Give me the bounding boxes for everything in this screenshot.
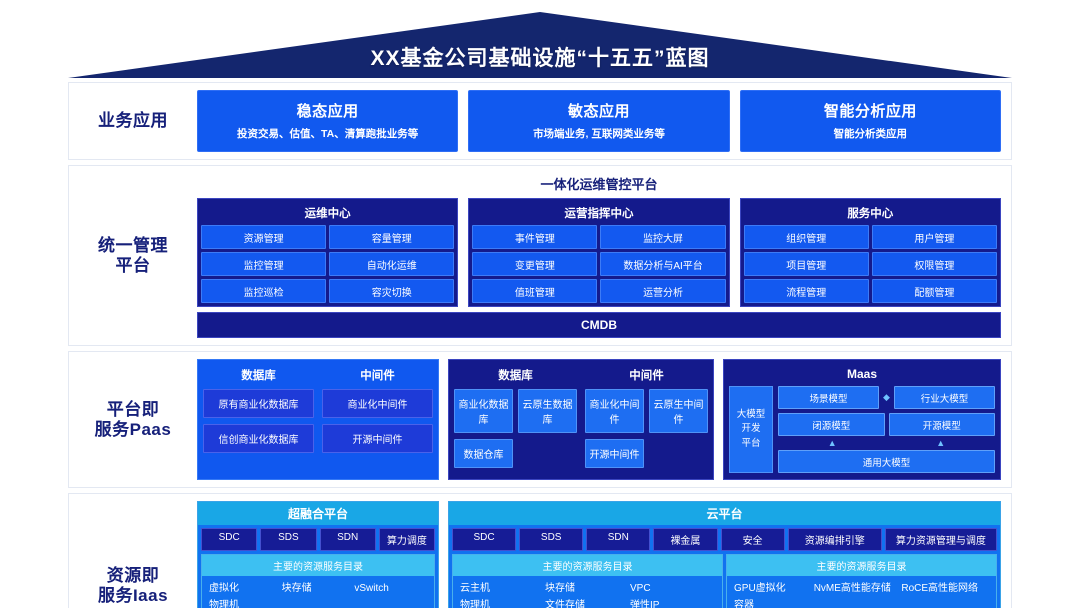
- roof-shape: XX基金公司基础设施“十五五”蓝图: [68, 12, 1012, 78]
- hyper-chip[interactable]: SDN: [320, 528, 376, 551]
- paas-item[interactable]: 商业化数据库: [454, 389, 513, 433]
- paas-group-traditional: 数据库 原有商业化数据库 信创商业化数据库 中间件 商业化中间件 开源中间件: [197, 359, 439, 480]
- catalog-col: 块存储 文件存储 对象存储: [545, 581, 630, 608]
- row-label-iaas: 资源即 服务Iaas: [69, 494, 197, 608]
- paas-item[interactable]: 云原生中间件: [649, 389, 708, 433]
- center-item[interactable]: 运营分析: [600, 279, 725, 303]
- cloud-chip[interactable]: SDN: [586, 528, 650, 551]
- catalog-col: RoCE高性能网络: [901, 581, 989, 608]
- row-paas: 平台即 服务Paas 数据库 原有商业化数据库 信创商业化数据库 中间件: [68, 351, 1012, 488]
- row-label-line2: 服务Iaas: [98, 586, 168, 606]
- maas-title: Maas: [729, 365, 995, 386]
- center-item[interactable]: 项目管理: [744, 252, 869, 276]
- paas-group-cloudnative: 数据库 商业化数据库 云原生数据库 数据仓库 中间件 商业化中间件 云原生: [448, 359, 714, 480]
- cmdb-bar[interactable]: CMDB: [197, 312, 1001, 338]
- row-label-line1: 平台即: [95, 400, 172, 420]
- app-card-title: 智能分析应用: [747, 100, 994, 121]
- center-operations-command[interactable]: 运营指挥中心 事件管理 监控大屏 变更管理 数据分析与AI平台 值班管理 运营分…: [468, 198, 729, 307]
- catalog-title: 主要的资源服务目录: [202, 555, 434, 576]
- page-title: XX基金公司基础设施“十五五”蓝图: [370, 42, 709, 78]
- paas-item[interactable]: 信创商业化数据库: [203, 424, 314, 453]
- app-card-title: 敏态应用: [475, 100, 722, 121]
- maas-general-model[interactable]: 通用大模型: [778, 450, 995, 473]
- cloud-chip[interactable]: 安全: [721, 528, 785, 551]
- catalog-item: 容器: [734, 598, 814, 608]
- catalog-col: 块存储: [282, 581, 355, 608]
- cloud-chip[interactable]: SDS: [519, 528, 583, 551]
- catalog-item: 物理机: [460, 598, 545, 608]
- paas-item[interactable]: 云原生数据库: [518, 389, 577, 433]
- iaas-cloud-platform: 云平台 SDC SDS SDN 裸金属 安全 资源编排引擎 算力资源管理与调度: [448, 501, 1001, 608]
- paas-group-maas: Maas 大模型 开发 平台 场景模型: [723, 359, 1001, 480]
- layer-stack: 业务应用 稳态应用 投资交易、估值、TA、清算跑批业务等 敏态应用 市场端业务,…: [68, 82, 1012, 608]
- cloud-chip[interactable]: SDC: [452, 528, 516, 551]
- paas-group-title: 中间件: [585, 365, 708, 389]
- app-card-title: 稳态应用: [204, 100, 451, 121]
- maas-dev-line2: 开发: [737, 422, 766, 436]
- catalog-col: 云主机 物理机 容器: [460, 581, 545, 608]
- paas-mw-traditional: 中间件 商业化中间件 开源中间件: [322, 365, 433, 474]
- row-label-management: 统一管理 平台: [69, 166, 197, 345]
- row-label-line2: 服务Paas: [95, 420, 172, 440]
- center-title: 服务中心: [744, 202, 997, 225]
- paas-mw-cloudnative: 中间件 商业化中间件 云原生中间件 开源中间件: [585, 365, 708, 474]
- center-item[interactable]: 自动化运维: [329, 252, 454, 276]
- center-item[interactable]: 权限管理: [872, 252, 997, 276]
- center-item[interactable]: 数据分析与AI平台: [600, 252, 725, 276]
- catalog-item: vSwitch: [354, 581, 427, 598]
- paas-item[interactable]: 商业化中间件: [322, 389, 433, 418]
- row-label-line1: 统一管理: [98, 236, 168, 256]
- hyper-chip[interactable]: SDS: [260, 528, 316, 551]
- cloud-catalog-pane-2: 主要的资源服务目录 GPU虚拟化 容器 物理机 NvME高性能存储: [726, 554, 997, 608]
- catalog-col: VPC 弹性IP 负载均衡: [630, 581, 715, 608]
- center-title: 运维中心: [201, 202, 454, 225]
- arrow-up-icon: ▲: [887, 440, 996, 446]
- paas-db-traditional: 数据库 原有商业化数据库 信创商业化数据库: [203, 365, 314, 474]
- maas-closed-model[interactable]: 闭源模型: [778, 413, 885, 436]
- platform-title: 一体化运维管控平台: [197, 174, 1001, 193]
- paas-item[interactable]: 开源中间件: [585, 439, 644, 468]
- app-card-subtitle: 投资交易、估值、TA、清算跑批业务等: [204, 126, 451, 141]
- app-card-stable[interactable]: 稳态应用 投资交易、估值、TA、清算跑批业务等: [197, 90, 458, 152]
- catalog-item: VPC: [630, 581, 715, 598]
- center-title: 运营指挥中心: [472, 202, 725, 225]
- app-card-agile[interactable]: 敏态应用 市场端业务, 互联网类业务等: [468, 90, 729, 152]
- cloud-chip[interactable]: 算力资源管理与调度: [885, 528, 997, 551]
- app-card-intelligent-analysis[interactable]: 智能分析应用 智能分析类应用: [740, 90, 1001, 152]
- iaas-hyperconverged-platform: 超融合平台 SDC SDS SDN 算力调度 主要的资源服务目录: [197, 501, 439, 608]
- hyper-chip[interactable]: 算力调度: [379, 528, 435, 551]
- catalog-item: GPU虚拟化: [734, 581, 814, 598]
- center-ops[interactable]: 运维中心 资源管理 容量管理 监控管理 自动化运维 监控巡检 容灾切换: [197, 198, 458, 307]
- center-item[interactable]: 组织管理: [744, 225, 869, 249]
- catalog-item: 弹性IP: [630, 598, 715, 608]
- catalog-col: vSwitch: [354, 581, 427, 608]
- catalog-col: NvME高性能存储: [814, 581, 902, 608]
- paas-item[interactable]: 数据仓库: [454, 439, 513, 468]
- paas-item[interactable]: 开源中间件: [322, 424, 433, 453]
- catalog-item: 虚拟化: [209, 581, 282, 598]
- blueprint-page: XX基金公司基础设施“十五五”蓝图 业务应用 稳态应用 投资交易、估值、TA、清…: [0, 0, 1080, 608]
- center-item[interactable]: 资源管理: [201, 225, 326, 249]
- center-item[interactable]: 监控大屏: [600, 225, 725, 249]
- arrow-up-icon: ▲: [778, 440, 887, 446]
- catalog-item: NvME高性能存储: [814, 581, 902, 598]
- paas-group-title: 数据库: [203, 365, 314, 389]
- paas-db-cloudnative: 数据库 商业化数据库 云原生数据库 数据仓库: [454, 365, 577, 474]
- center-item[interactable]: 配额管理: [872, 279, 997, 303]
- app-card-subtitle: 智能分析类应用: [747, 126, 994, 141]
- catalog-title: 主要的资源服务目录: [727, 555, 996, 576]
- row-business-applications: 业务应用 稳态应用 投资交易、估值、TA、清算跑批业务等 敏态应用 市场端业务,…: [68, 82, 1012, 160]
- paas-item[interactable]: 原有商业化数据库: [203, 389, 314, 418]
- catalog-item: 块存储: [545, 581, 630, 598]
- center-item[interactable]: 值班管理: [472, 279, 597, 303]
- maas-scene-model[interactable]: 场景模型: [778, 386, 879, 409]
- center-item[interactable]: 监控巡检: [201, 279, 326, 303]
- row-label-paas: 平台即 服务Paas: [69, 352, 197, 487]
- center-item[interactable]: 变更管理: [472, 252, 597, 276]
- paas-group-title: 中间件: [322, 365, 433, 389]
- center-service[interactable]: 服务中心 组织管理 用户管理 项目管理 权限管理 流程管理 配额管理: [740, 198, 1001, 307]
- management-centers: 运维中心 资源管理 容量管理 监控管理 自动化运维 监控巡检 容灾切换 运营指挥…: [197, 198, 1001, 307]
- maas-industry-model[interactable]: 行业大模型: [894, 386, 995, 409]
- catalog-title: 主要的资源服务目录: [453, 555, 722, 576]
- catalog-col: 虚拟化 物理机: [209, 581, 282, 608]
- arrow-left-right-icon: ◆: [883, 393, 890, 402]
- hyper-chip[interactable]: SDC: [201, 528, 257, 551]
- paas-group-title: 数据库: [454, 365, 577, 389]
- hyper-catalog-pane: 主要的资源服务目录 虚拟化 物理机 块存储: [201, 554, 435, 608]
- business-app-cards: 稳态应用 投资交易、估值、TA、清算跑批业务等 敏态应用 市场端业务, 互联网类…: [197, 90, 1001, 152]
- center-item[interactable]: 流程管理: [744, 279, 869, 303]
- catalog-item: 云主机: [460, 581, 545, 598]
- center-item[interactable]: 用户管理: [872, 225, 997, 249]
- row-iaas: 资源即 服务Iaas 超融合平台 SDC SDS SDN 算力调度: [68, 493, 1012, 608]
- center-item[interactable]: 事件管理: [472, 225, 597, 249]
- row-unified-management-platform: 统一管理 平台 一体化运维管控平台 运维中心 资源管理 容量管理 监控管理 自动…: [68, 165, 1012, 346]
- cloud-chip[interactable]: 裸金属: [653, 528, 717, 551]
- catalog-col: GPU虚拟化 容器 物理机: [734, 581, 814, 608]
- paas-item[interactable]: 商业化中间件: [585, 389, 644, 433]
- maas-open-model[interactable]: 开源模型: [889, 413, 996, 436]
- cloud-title: 云平台: [449, 502, 1000, 525]
- cloud-catalog-pane-1: 主要的资源服务目录 云主机 物理机 容器 块存储 文: [452, 554, 723, 608]
- center-item[interactable]: 容灾切换: [329, 279, 454, 303]
- app-card-subtitle: 市场端业务, 互联网类业务等: [475, 126, 722, 141]
- center-item[interactable]: 容量管理: [329, 225, 454, 249]
- hyper-title: 超融合平台: [198, 502, 438, 525]
- maas-dev-platform[interactable]: 大模型 开发 平台: [729, 386, 773, 473]
- row-label-line2: 平台: [98, 256, 168, 276]
- catalog-item: 块存储: [282, 581, 355, 598]
- maas-dev-line3: 平台: [737, 437, 766, 451]
- maas-dev-line1: 大模型: [737, 408, 766, 422]
- catalog-item: 文件存储: [545, 598, 630, 608]
- catalog-item: 物理机: [209, 598, 282, 608]
- row-label-line1: 资源即: [98, 566, 168, 586]
- cloud-chip[interactable]: 资源编排引擎: [788, 528, 882, 551]
- row-label-business: 业务应用: [69, 83, 197, 159]
- center-item[interactable]: 监控管理: [201, 252, 326, 276]
- roof-header: XX基金公司基础设施“十五五”蓝图: [0, 0, 1080, 78]
- catalog-item: RoCE高性能网络: [901, 581, 989, 598]
